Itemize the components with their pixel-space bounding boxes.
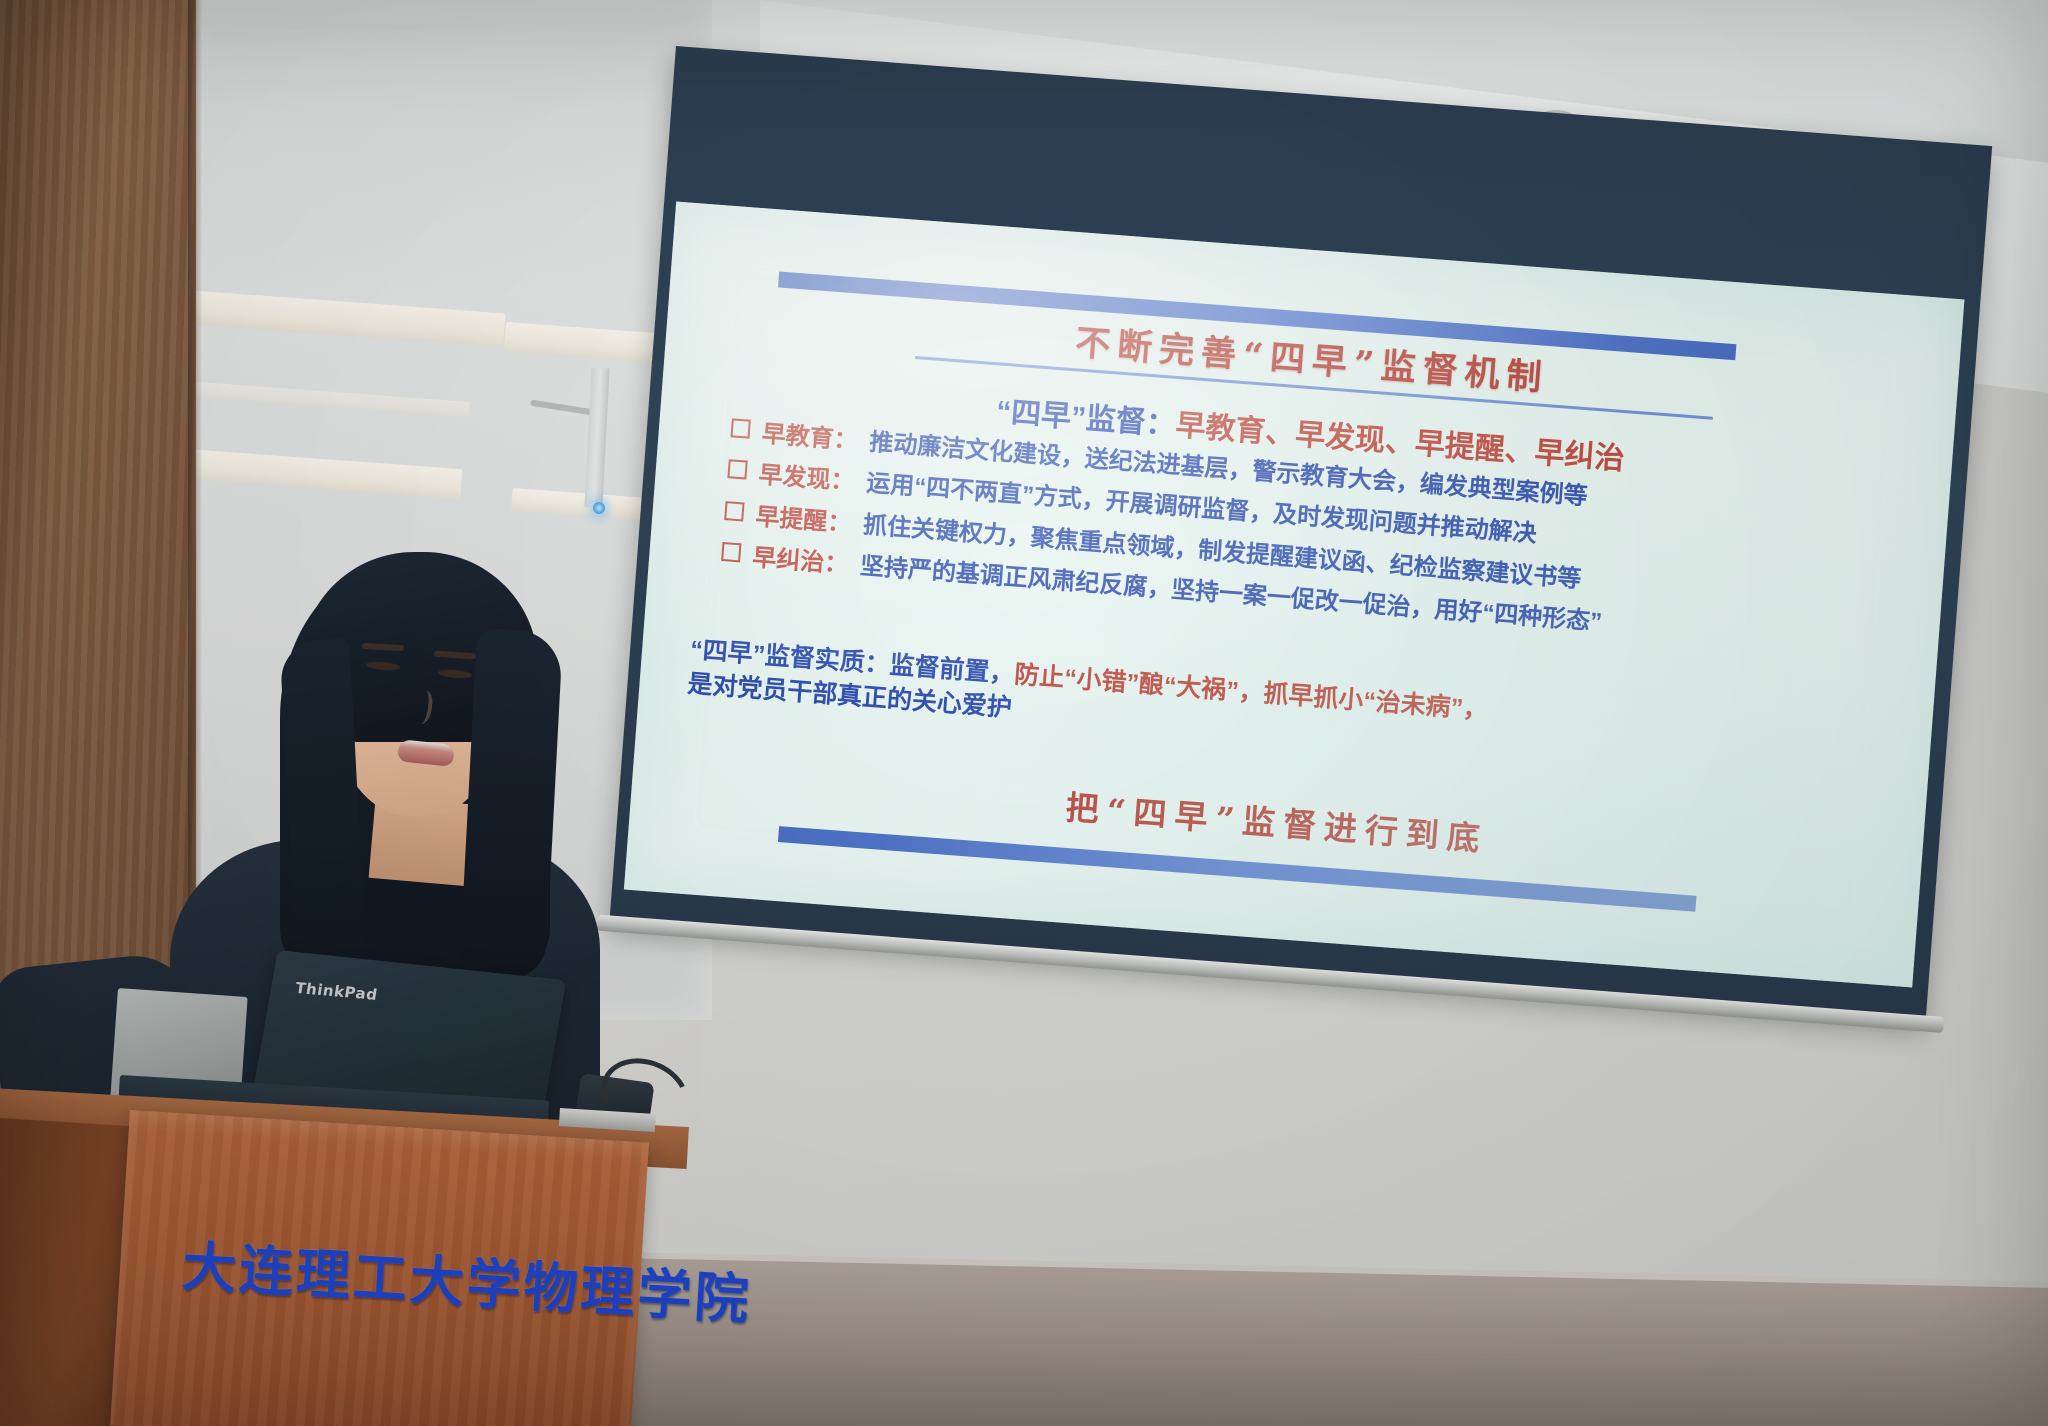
wainscot-panel <box>620 1258 2048 1426</box>
projection-screen: 不断完善“四早”监督机制 “四早”监督：早教育、早发现、早提醒、早纠治 早教育：… <box>599 46 2040 1157</box>
thinkpad-logo-text: ThinkPad <box>294 979 379 1004</box>
square-bullet-icon <box>724 501 744 521</box>
thinkpad-logo: ThinkPad <box>294 979 379 1004</box>
bullet-term: 早纠治： <box>751 544 849 580</box>
square-bullet-icon <box>727 460 747 480</box>
essence-highlight: 防止“小错”酿“大祸”，抓早抓小“治未病”， <box>1013 661 1489 725</box>
bullet-term: 早发现： <box>758 462 856 498</box>
lead-label: “四早”监督： <box>995 395 1177 442</box>
lecture-photo-scene: 不断完善“四早”监督机制 “四早”监督：早教育、早发现、早提醒、早纠治 早教育：… <box>0 0 2048 1426</box>
status-led-indicator <box>593 502 605 514</box>
presenter-hair-strand-right <box>459 628 563 982</box>
projected-slide: 不断完善“四早”监督机制 “四早”监督：早教育、早发现、早提醒、早纠治 早教育：… <box>624 201 1965 987</box>
square-bullet-icon <box>730 418 750 438</box>
bullet-term: 早提醒： <box>754 503 852 539</box>
slide-content: 不断完善“四早”监督机制 “四早”监督：早教育、早发现、早提醒、早纠治 早教育：… <box>624 201 1965 987</box>
square-bullet-icon <box>721 542 741 562</box>
bullet-term: 早教育： <box>761 421 859 457</box>
